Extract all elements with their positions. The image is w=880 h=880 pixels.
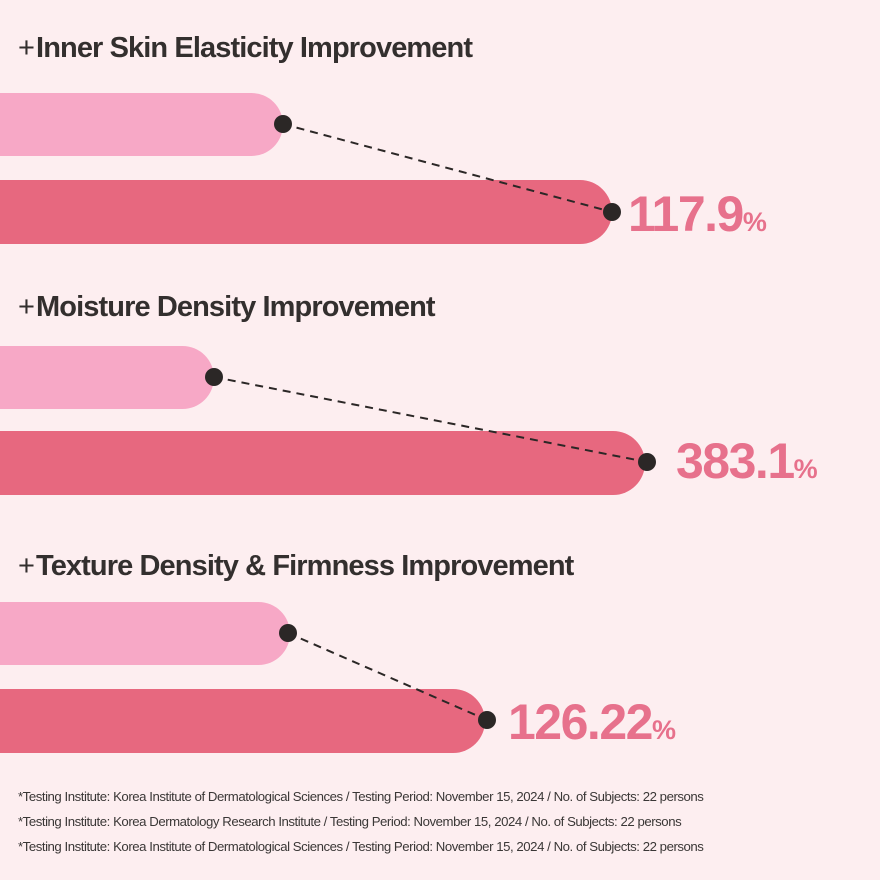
footnote-item: *Testing Institute: Korea Institute of D… [18, 790, 863, 803]
plus-icon: + [18, 550, 34, 582]
bar-before [0, 346, 214, 409]
value-number: 126.22 [508, 694, 652, 750]
footnote-item: *Testing Institute: Korea Dermatology Re… [18, 815, 863, 828]
group-title: +Texture Density & Firmness Improvement [18, 552, 573, 581]
footnotes: *Testing Institute: Korea Institute of D… [18, 790, 863, 866]
group-title-label: Texture Density & Firmness Improvement [36, 550, 573, 582]
group-title: +Moisture Density Improvement [18, 293, 435, 322]
value-number: 383.1 [676, 433, 794, 489]
bar-after [0, 180, 612, 244]
value-number: 117.9 [628, 186, 743, 242]
value-label: 126.22% [508, 697, 675, 747]
value-unit: % [743, 207, 767, 237]
plus-icon: + [18, 291, 34, 323]
value-label: 117.9% [628, 189, 766, 239]
value-label: 383.1% [676, 436, 817, 486]
value-unit: % [794, 454, 818, 484]
bar-after [0, 689, 485, 753]
bar-before [0, 93, 283, 156]
group-title-label: Moisture Density Improvement [36, 291, 435, 323]
bar-after [0, 431, 645, 495]
bar-before [0, 602, 290, 665]
group-title: +Inner Skin Elasticity Improvement [18, 34, 472, 63]
footnote-item: *Testing Institute: Korea Institute of D… [18, 840, 863, 853]
value-unit: % [652, 715, 676, 745]
infographic-board: +Inner Skin Elasticity Improvement 117.9… [0, 0, 880, 880]
group-title-label: Inner Skin Elasticity Improvement [36, 32, 472, 64]
plus-icon: + [18, 32, 34, 64]
